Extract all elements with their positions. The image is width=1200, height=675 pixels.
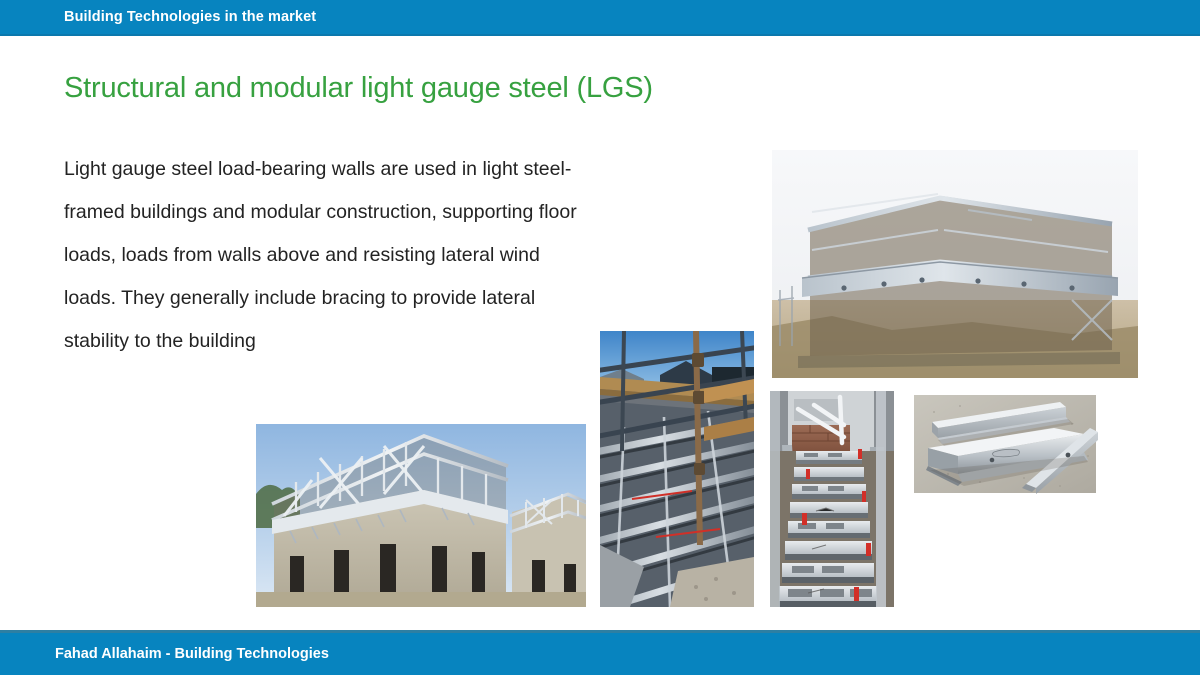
braced-lgs-house-image bbox=[256, 424, 586, 607]
steel-stair-image bbox=[770, 391, 894, 607]
presentation-slide: Building Technologies in the market Stru… bbox=[0, 0, 1200, 675]
header-title: Building Technologies in the market bbox=[64, 9, 316, 25]
body-line-4: loads. They generally include bracing to… bbox=[64, 277, 632, 320]
body-line-5: stability to the building bbox=[64, 320, 632, 363]
floor-joists-scaffold-image bbox=[600, 331, 754, 607]
body-line-1: Light gauge steel load-bearing walls are… bbox=[64, 148, 632, 191]
footer-top-edge bbox=[0, 630, 1200, 633]
footer-text: Fahad Allahaim - Building Technologies bbox=[55, 646, 329, 662]
steel-profiles-image bbox=[908, 390, 1102, 498]
page-title: Structural and modular light gauge steel… bbox=[64, 72, 653, 105]
body-line-3: loads, loads from walls above and resist… bbox=[64, 234, 632, 277]
body-paragraph: Light gauge steel load-bearing walls are… bbox=[64, 148, 632, 363]
lgs-frame-building-image bbox=[772, 150, 1138, 378]
body-line-2: framed buildings and modular constructio… bbox=[64, 191, 632, 234]
header-bottom-edge bbox=[0, 34, 1200, 36]
